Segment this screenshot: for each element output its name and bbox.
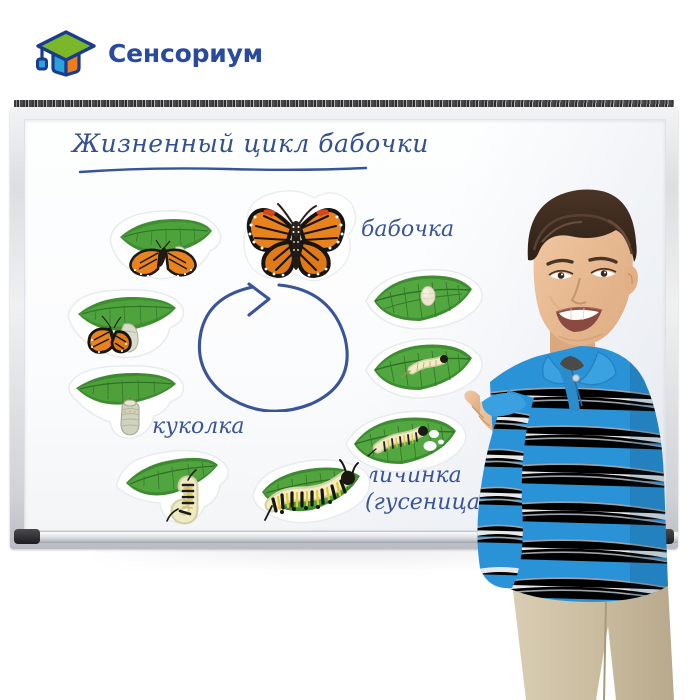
tray-end-cap-left bbox=[14, 529, 40, 544]
graduation-cap-icon bbox=[34, 26, 98, 80]
hanging-caterpillar-magnet[interactable] bbox=[108, 443, 236, 529]
emerging-butterfly-magnet[interactable] bbox=[62, 282, 190, 366]
chrysalis-magnet[interactable] bbox=[62, 358, 190, 444]
butterfly-magnet[interactable] bbox=[230, 184, 362, 288]
brand-logo[interactable]: Сенсориум bbox=[34, 26, 263, 80]
circular-arrow-icon bbox=[193, 276, 355, 412]
board-title: Жизненный цикл бабочки bbox=[72, 129, 429, 158]
brand-name: Сенсориум bbox=[108, 41, 263, 66]
screenshot-root: Сенсориум Жизненный цикл бабочки бабочка… bbox=[0, 0, 700, 700]
title-underline bbox=[78, 166, 368, 174]
boy-photo bbox=[430, 150, 700, 700]
leaf-with-butterfly-magnet[interactable] bbox=[100, 203, 228, 287]
